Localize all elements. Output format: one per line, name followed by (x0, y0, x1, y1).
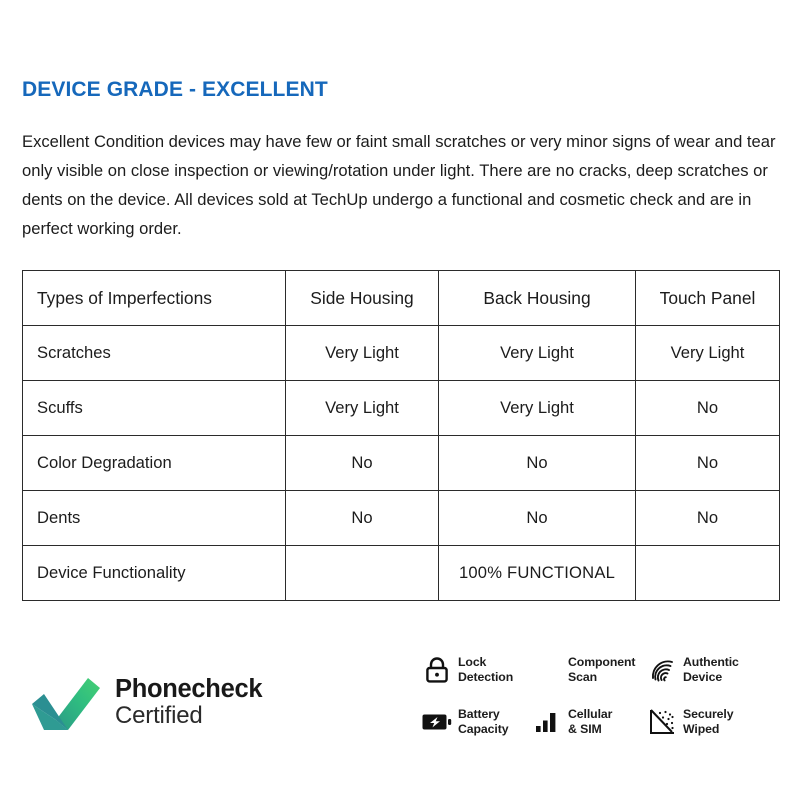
badge-label: Authentic Device (683, 655, 739, 685)
row-label: Color Degradation (23, 436, 286, 491)
badge-label: Lock Detection (458, 655, 513, 685)
column-header-types: Types of Imperfections (23, 271, 286, 326)
cell-touch-panel: No (636, 491, 780, 546)
cell-touch-panel: Very Light (636, 326, 780, 381)
row-label: Scratches (23, 326, 286, 381)
cell-side-housing: No (286, 436, 439, 491)
status-badge-functional: 100% FUNCTIONAL (439, 546, 636, 601)
cell-back-housing: No (439, 436, 636, 491)
cell-side-housing: No (286, 491, 439, 546)
badge-label: Securely Wiped (683, 707, 733, 737)
badge-cellular-sim: Cellular & SIM (532, 707, 647, 737)
cell-side-housing: Very Light (286, 381, 439, 436)
logo-name-bottom: Certified (115, 703, 262, 728)
cell-touch-panel (636, 546, 780, 601)
table-row: Scuffs Very Light Very Light No (23, 381, 780, 436)
badge-component-scan: Component Scan (532, 655, 647, 685)
phonecheck-certified-logo: Phonecheck Certified (30, 668, 262, 736)
cell-back-housing: Very Light (439, 381, 636, 436)
badge-label: Battery Capacity (458, 707, 508, 737)
table-body: Scratches Very Light Very Light Very Lig… (23, 326, 780, 601)
signal-bars-icon (532, 707, 562, 737)
badge-battery-capacity: Battery Capacity (422, 707, 532, 737)
row-label: Dents (23, 491, 286, 546)
cell-back-housing: No (439, 491, 636, 546)
table-row: Scratches Very Light Very Light Very Lig… (23, 326, 780, 381)
footer: Phonecheck Certified Lock Detection (0, 636, 800, 766)
table-header: Types of Imperfections Side Housing Back… (23, 271, 780, 326)
battery-icon (422, 707, 452, 737)
cell-touch-panel: No (636, 436, 780, 491)
fingerprint-icon (647, 655, 677, 685)
badge-label: Cellular & SIM (568, 707, 612, 737)
lock-icon (422, 655, 452, 685)
badge-authentic-device: Authentic Device (647, 655, 772, 685)
data-wipe-icon (647, 707, 677, 737)
row-label: Scuffs (23, 381, 286, 436)
device-grade-page: DEVICE GRADE - EXCELLENT Excellent Condi… (0, 0, 800, 800)
grade-description: Excellent Condition devices may have few… (22, 127, 780, 243)
table-row: Device Functionality 100% FUNCTIONAL (23, 546, 780, 601)
certification-badges: Lock Detection Component Scan (422, 644, 782, 748)
cell-side-housing (286, 546, 439, 601)
imperfections-table: Types of Imperfections Side Housing Back… (22, 270, 780, 601)
table-header-row: Types of Imperfections Side Housing Back… (23, 271, 780, 326)
cell-back-housing: Very Light (439, 326, 636, 381)
column-header-touch-panel: Touch Panel (636, 271, 780, 326)
cell-side-housing: Very Light (286, 326, 439, 381)
column-header-side-housing: Side Housing (286, 271, 439, 326)
row-label: Device Functionality (23, 546, 286, 601)
table-row: Color Degradation No No No (23, 436, 780, 491)
table-row: Dents No No No (23, 491, 780, 546)
logo-wordmark: Phonecheck Certified (115, 676, 262, 728)
page-title: DEVICE GRADE - EXCELLENT (22, 78, 328, 102)
logo-name-top: Phonecheck (115, 676, 262, 703)
checkmark-icon (30, 668, 102, 736)
badge-securely-wiped: Securely Wiped (647, 707, 772, 737)
badge-lock-detection: Lock Detection (422, 655, 532, 685)
cell-touch-panel: No (636, 381, 780, 436)
badge-label: Component Scan (568, 655, 635, 685)
column-header-back-housing: Back Housing (439, 271, 636, 326)
